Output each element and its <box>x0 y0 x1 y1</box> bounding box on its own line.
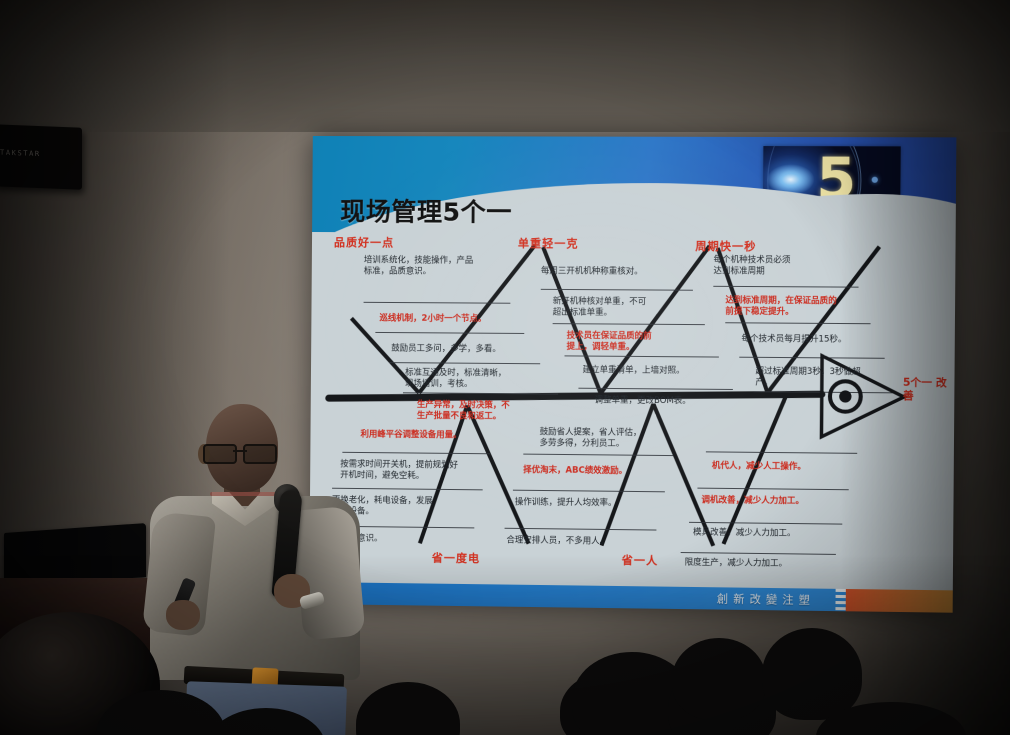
presenter-glasses <box>203 444 277 460</box>
note-weight-3: 技术员在保证品质的前 提上，调轻单重。 <box>567 330 734 353</box>
note-quality-3: 鼓励员工多问，多学，多看。 <box>391 343 560 355</box>
note-quality-2: 巡线机制，2小时一个节点。 <box>379 312 540 324</box>
note-people-4: 合理安排人员，不多用人。 <box>506 534 676 547</box>
photo-scene: TAKSTAR 5 现场管理5个一 <box>0 0 1010 735</box>
note-people-1: 鼓励省人提案，省人评估， 多劳多得，分利员工。 <box>540 426 707 450</box>
presenter-left-hand <box>166 600 200 630</box>
note-power-1: 利用峰平谷调整设备用量。 <box>360 428 531 441</box>
note-weight-4: 建立单重清单，上墙对照。 <box>583 364 750 376</box>
note-weight-1: 每周三开机机种称重核对。 <box>541 265 707 277</box>
note-people-3: 操作训练，提升人均效率。 <box>515 496 685 509</box>
note-people-2: 择优淘末，ABC绩效激励。 <box>523 464 695 477</box>
category-label-cycle: 周期快一秒 <box>695 238 756 254</box>
note-weight-2: 新开机种核对单重，不可 超出标准单重。 <box>553 295 720 318</box>
presenter-collar-stripe <box>210 492 280 496</box>
note-machine-3: 模具改善，减少人力加工。 <box>693 526 861 539</box>
note-power-2: 按需求时间开关机，提前规划好 开机时间，避免空耗。 <box>340 458 519 482</box>
note-quality-1: 培训系统化，技能操作，产品 标准，品质意识。 <box>364 254 525 277</box>
audience-head-8 <box>672 638 766 720</box>
note-quality-4: 标准互通及时，标准清晰， 现场培训，考核。 <box>405 367 575 390</box>
audience-head-9 <box>762 628 862 720</box>
presenter-right-arm <box>292 506 365 641</box>
note-quality-5: 生产异常，及时决策，不 生产批量不良和返工。 <box>417 399 587 423</box>
category-label-weight: 单重轻一克 <box>518 235 579 251</box>
category-label-quality: 品质好一点 <box>334 234 394 250</box>
note-weight-5: 调整单重，更改BOM表。 <box>594 394 761 407</box>
presenter <box>148 404 363 735</box>
